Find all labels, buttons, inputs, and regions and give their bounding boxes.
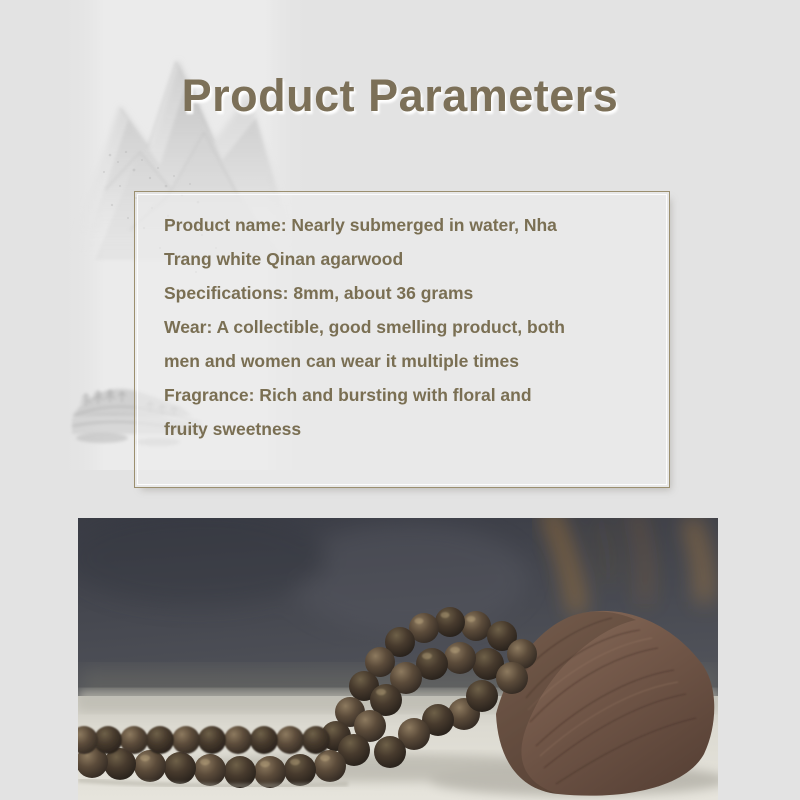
parameter-line: Fragrance: Rich and bursting with floral… [164, 378, 650, 412]
product-photo [78, 518, 718, 800]
product-detail-page: Product Parameters Product name: Nearly … [0, 0, 800, 800]
parameter-line: fruity sweetness [164, 412, 650, 446]
parameter-line: Specifications: 8mm, about 36 grams [164, 276, 650, 310]
parameter-line: Wear: A collectible, good smelling produ… [164, 310, 650, 344]
parameter-line: Trang white Qinan agarwood [164, 242, 650, 276]
page-title-wrapper: Product Parameters [0, 70, 800, 122]
parameters-text-block: Product name: Nearly submerged in water,… [164, 208, 650, 446]
parameter-line: men and women can wear it multiple times [164, 344, 650, 378]
page-title: Product Parameters [182, 70, 619, 122]
parameter-line: Product name: Nearly submerged in water,… [164, 208, 650, 242]
